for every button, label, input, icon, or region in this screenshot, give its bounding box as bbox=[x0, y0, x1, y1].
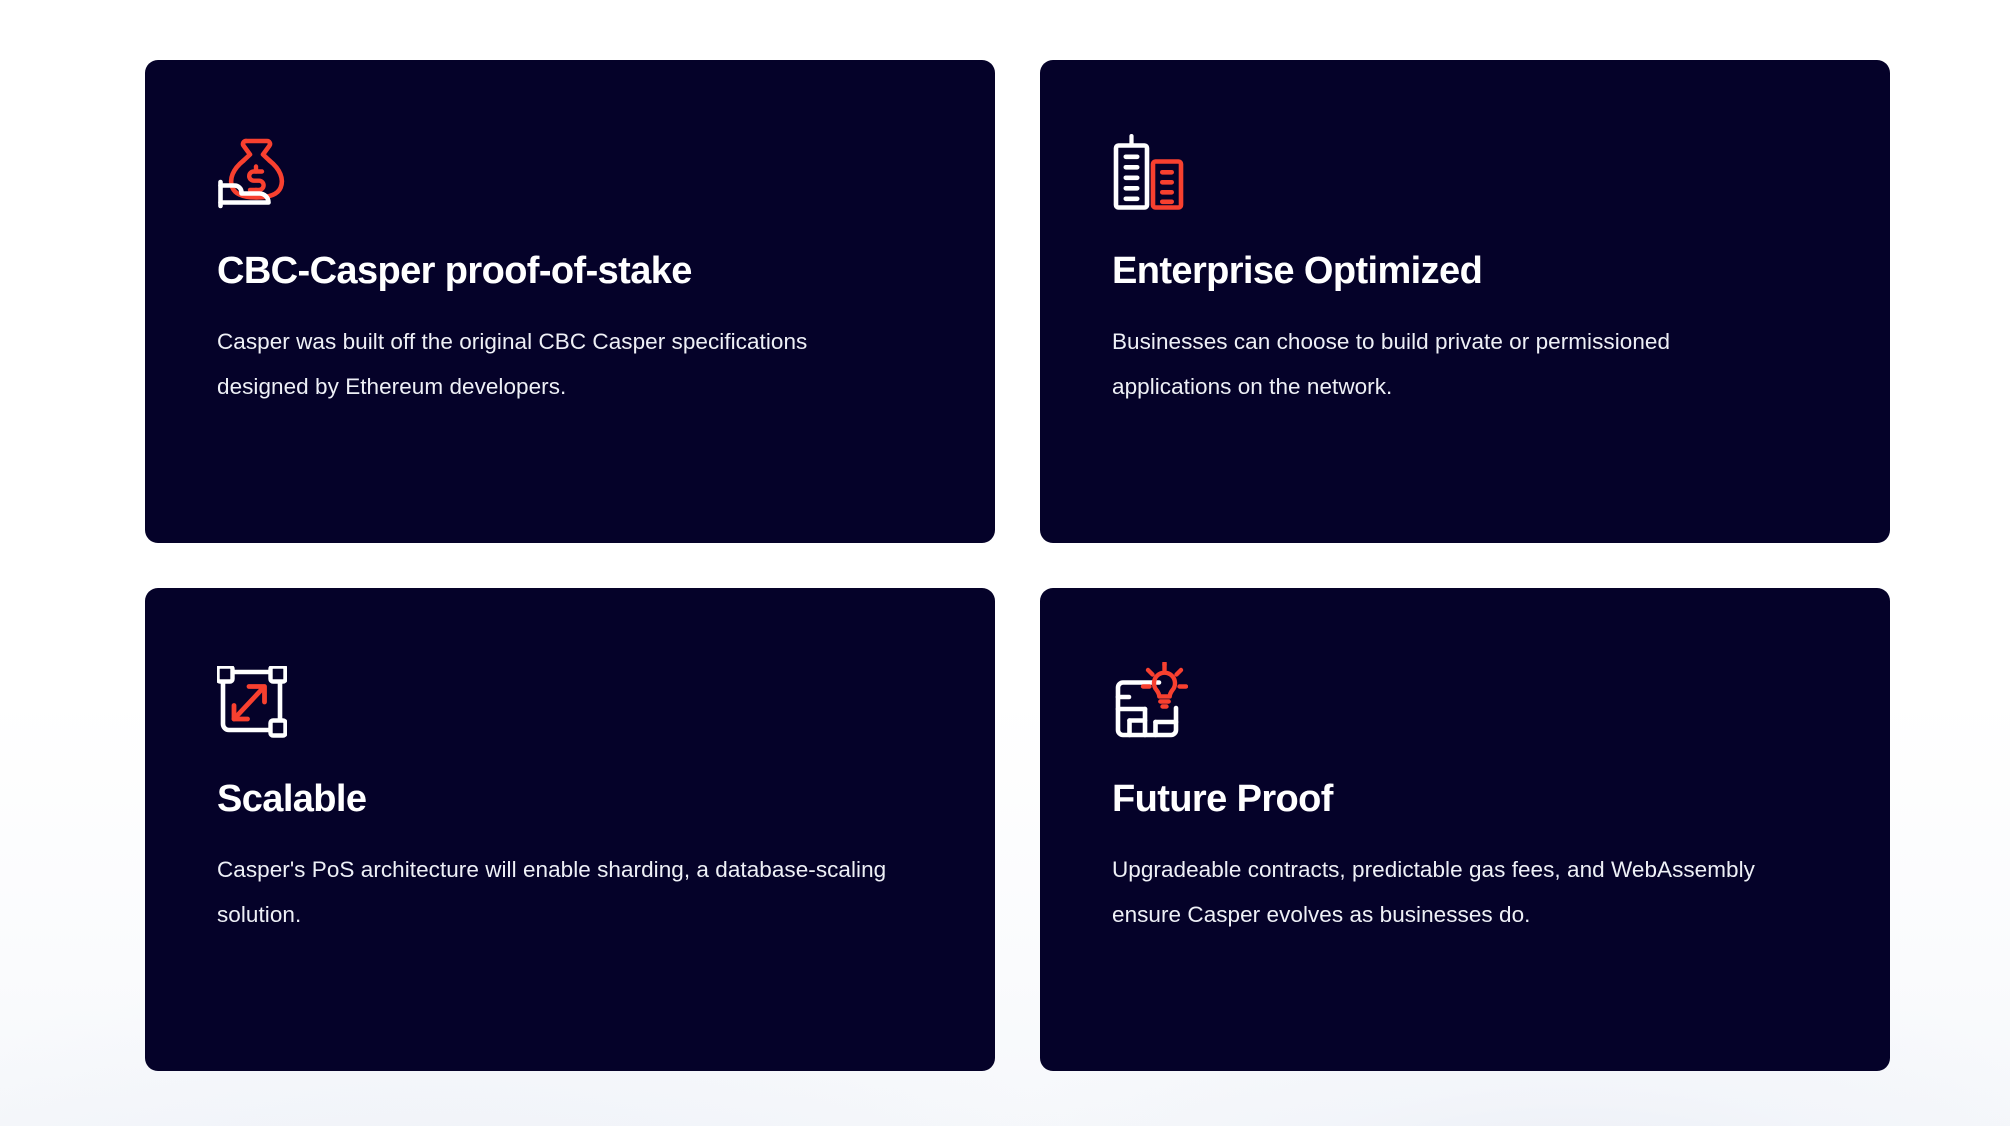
scale-arrow-frame-icon bbox=[217, 654, 923, 738]
office-buildings-icon bbox=[1112, 126, 1818, 210]
card-title: Future Proof bbox=[1112, 778, 1818, 821]
feature-card-scalable[interactable]: Scalable Casper's PoS architecture will … bbox=[145, 588, 995, 1071]
card-description: Upgradeable contracts, predictable gas f… bbox=[1112, 847, 1792, 937]
card-title: Enterprise Optimized bbox=[1112, 250, 1818, 293]
money-bag-in-hand-icon bbox=[217, 126, 923, 210]
card-title: Scalable bbox=[217, 778, 923, 821]
card-title: CBC-Casper proof-of-stake bbox=[217, 250, 923, 293]
feature-card-grid: CBC-Casper proof-of-stake Casper was bui… bbox=[145, 60, 1870, 1071]
feature-card-future-proof[interactable]: Future Proof Upgradeable contracts, pred… bbox=[1040, 588, 1890, 1071]
feature-card-cbc-casper[interactable]: CBC-Casper proof-of-stake Casper was bui… bbox=[145, 60, 995, 543]
card-description: Businesses can choose to build private o… bbox=[1112, 319, 1792, 409]
card-description: Casper was built off the original CBC Ca… bbox=[217, 319, 897, 409]
feature-card-enterprise-optimized[interactable]: Enterprise Optimized Businesses can choo… bbox=[1040, 60, 1890, 543]
card-description: Casper's PoS architecture will enable sh… bbox=[217, 847, 897, 937]
blueprint-lightbulb-icon bbox=[1112, 654, 1818, 738]
